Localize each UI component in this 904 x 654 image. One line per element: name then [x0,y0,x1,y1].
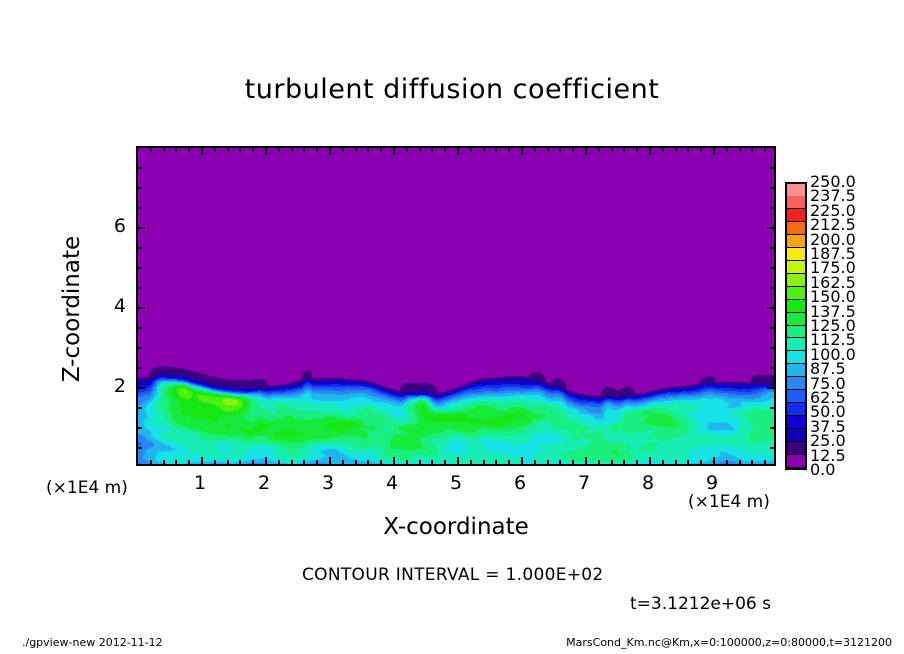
axis-tick [380,148,382,152]
x-axis-title: X-coordinate [136,514,776,540]
axis-tick [138,447,142,449]
axis-tick [355,148,357,152]
axis-tick [342,148,344,152]
colorbar-cell [787,209,805,222]
y-axis-title: Z-coordinate [59,179,85,439]
x-tick-label: 4 [372,472,412,494]
axis-tick [419,148,421,152]
plot-area [136,146,776,466]
axis-tick [687,460,689,464]
page-title: turbulent diffusion coefficient [0,74,904,105]
axis-tick [547,148,549,152]
axis-tick [764,460,766,464]
axis-tick [611,460,613,464]
axis-tick [470,148,472,152]
axis-tick [252,148,254,152]
axis-tick [150,460,152,464]
y-tick-label: 2 [96,375,126,397]
axis-tick [495,148,497,152]
axis-tick [444,148,446,152]
colorbar-cell [787,313,805,326]
colorbar-tick-label: 37.5 [810,419,846,435]
colorbar-cell [787,416,805,429]
axis-tick [470,460,472,464]
axis-tick [138,207,142,209]
colorbar-tick-label: 250.0 [810,174,856,190]
axis-tick [138,227,145,229]
y-tick-label: 4 [96,295,126,317]
axis-tick [572,148,574,152]
axis-tick [770,427,774,429]
colorbar-cell [787,403,805,416]
axis-tick [265,457,267,464]
axis-tick [767,387,774,389]
axis-tick [291,148,293,152]
colorbar-cell [787,287,805,300]
axis-tick [751,460,753,464]
colorbar-tick-label: 225.0 [810,203,856,219]
axis-tick [767,307,774,309]
axis-tick [739,148,741,152]
axis-tick [585,457,587,464]
x-axis-unit-note: (×1E4 m) [688,492,770,512]
colorbar-cell [787,351,805,364]
axis-tick [431,148,433,152]
axis-tick [291,460,293,464]
axis-tick [770,327,774,329]
y-tick-label: 6 [96,215,126,237]
axis-tick [623,460,625,464]
axis-tick [214,148,216,152]
axis-tick [278,460,280,464]
axis-tick [559,148,561,152]
axis-tick [559,460,561,464]
colorbar-labels: 0.012.525.037.550.062.575.087.5100.0112.… [810,182,900,470]
axis-tick [138,187,142,189]
axis-tick [150,148,152,152]
axis-tick [239,460,241,464]
axis-tick [175,148,177,152]
axis-tick [138,427,142,429]
axis-tick [636,460,638,464]
axis-tick [138,407,142,409]
x-tick-label: 3 [308,472,348,494]
axis-tick [444,460,446,464]
axis-tick [188,148,190,152]
axis-tick [188,460,190,464]
axis-tick [508,148,510,152]
axis-tick [380,460,382,464]
axis-tick [495,460,497,464]
axis-tick [713,148,715,155]
axis-tick [214,460,216,464]
colorbar-cell [787,429,805,442]
footer-command-label: ./gpview-new 2012-11-12 [22,636,163,649]
axis-tick [770,407,774,409]
axis-tick [138,287,142,289]
axis-tick [342,460,344,464]
colorbar-tick-label: 162.5 [810,275,856,291]
axis-tick [764,148,766,152]
axis-tick [547,460,549,464]
x-tick-label: 6 [500,472,540,494]
axis-tick [572,460,574,464]
axis-tick [329,148,331,155]
axis-tick [457,457,459,464]
axis-tick [227,148,229,152]
footer-source-label: MarsCond_Km.nc@Km,x=0:100000,z=0:80000,t… [566,636,892,649]
axis-tick [367,148,369,152]
axis-tick [227,460,229,464]
axis-tick [355,460,357,464]
turbulence-field-heatmap [138,148,774,464]
axis-tick [265,148,267,155]
colorbar [785,182,807,470]
x-tick-label: 9 [692,472,732,494]
axis-tick [138,267,142,269]
axis-tick [367,460,369,464]
axis-tick [201,148,203,155]
axis-tick [138,367,142,369]
colorbar-cell [787,222,805,235]
axis-tick [700,148,702,152]
axis-tick [534,148,536,152]
colorbar-cell [787,390,805,403]
axis-tick [770,267,774,269]
axis-tick [457,148,459,155]
axis-tick [393,148,395,155]
axis-tick [419,460,421,464]
axis-tick [534,460,536,464]
axis-tick [770,207,774,209]
axis-tick [508,460,510,464]
axis-tick [770,247,774,249]
x-tick-label: 2 [244,472,284,494]
axis-tick [175,460,177,464]
axis-tick [662,460,664,464]
axis-tick [303,148,305,152]
axis-tick [751,148,753,152]
x-tick-label: 8 [628,472,668,494]
axis-tick [726,148,728,152]
axis-tick [138,307,145,309]
axis-tick [406,460,408,464]
colorbar-cell [787,248,805,261]
colorbar-cell [787,300,805,313]
timestamp-label: t=3.1212e+06 s [630,594,771,614]
axis-tick [138,167,142,169]
colorbar-cell [787,338,805,351]
colorbar-cell [787,235,805,248]
axis-tick [675,148,677,152]
axis-tick [649,148,651,155]
colorbar-cell [787,455,805,468]
colorbar-cell [787,364,805,377]
axis-tick [431,460,433,464]
contour-interval-label: CONTOUR INTERVAL = 1.000E+02 [302,565,604,585]
axis-tick [138,347,142,349]
axis-tick [770,447,774,449]
colorbar-cell [787,442,805,455]
axis-tick [726,460,728,464]
axis-tick [598,460,600,464]
colorbar-cell [787,261,805,274]
axis-tick [770,287,774,289]
axis-tick [700,460,702,464]
axis-tick [329,457,331,464]
axis-tick [521,457,523,464]
axis-tick [303,460,305,464]
axis-tick [138,327,142,329]
axis-tick [278,148,280,152]
axis-tick [138,387,145,389]
colorbar-cell [787,326,805,339]
axis-tick [675,460,677,464]
axis-tick [201,457,203,464]
axis-tick [767,227,774,229]
y-axis-unit-note: (×1E4 m) [46,478,128,498]
axis-tick [770,167,774,169]
axis-tick [649,457,651,464]
axis-tick [239,148,241,152]
axis-tick [316,148,318,152]
axis-tick [163,148,165,152]
x-tick-label: 5 [436,472,476,494]
x-tick-label: 1 [180,472,220,494]
x-tick-label: 7 [564,472,604,494]
colorbar-cell [787,377,805,390]
colorbar-cell [787,184,805,196]
axis-tick [316,460,318,464]
axis-tick [623,148,625,152]
axis-tick [393,457,395,464]
axis-tick [770,347,774,349]
axis-tick [252,460,254,464]
axis-tick [521,148,523,155]
axis-tick [713,457,715,464]
axis-tick [585,148,587,155]
axis-tick [662,148,664,152]
axis-tick [636,148,638,152]
colorbar-cell [787,196,805,209]
axis-tick [483,460,485,464]
axis-tick [163,460,165,464]
colorbar-cell [787,274,805,287]
axis-tick [406,148,408,152]
axis-tick [739,460,741,464]
axis-tick [598,148,600,152]
axis-tick [483,148,485,152]
axis-tick [687,148,689,152]
axis-tick [770,367,774,369]
colorbar-tick-label: 100.0 [810,347,856,363]
axis-tick [138,247,142,249]
axis-tick [611,148,613,152]
axis-tick [770,187,774,189]
